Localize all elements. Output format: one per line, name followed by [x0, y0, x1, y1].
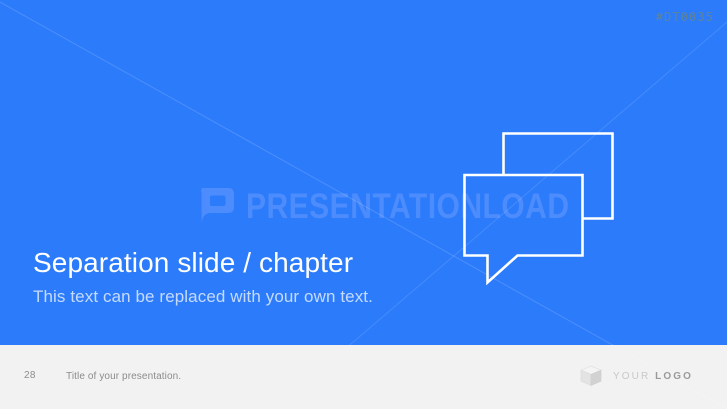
- speech-bubble-logo-icon: [196, 186, 235, 226]
- logo-text: YOUR LOGO: [613, 371, 693, 382]
- template-code-label: #DT0035: [656, 10, 714, 24]
- footer-presentation-title: Title of your presentation.: [66, 371, 181, 382]
- logo-text-secondary: LOGO: [655, 371, 693, 382]
- logo-text-primary: YOUR: [613, 371, 650, 382]
- cube-logo-icon: [578, 363, 604, 389]
- footer-page-number: 28: [24, 370, 36, 381]
- headline-block: Separation slide / chapter This text can…: [33, 246, 453, 308]
- slide-body-background: PRESENTATIONLOAD #DT0035 Separation slid…: [0, 0, 727, 345]
- slide-canvas: PRESENTATIONLOAD #DT0035 Separation slid…: [0, 0, 727, 409]
- page-subtitle[interactable]: This text can be replaced with your own …: [33, 286, 453, 308]
- two-speech-bubbles-icon: [450, 120, 630, 295]
- footer-logo-block[interactable]: YOUR LOGO: [578, 363, 693, 389]
- page-title: Separation slide / chapter: [33, 246, 453, 280]
